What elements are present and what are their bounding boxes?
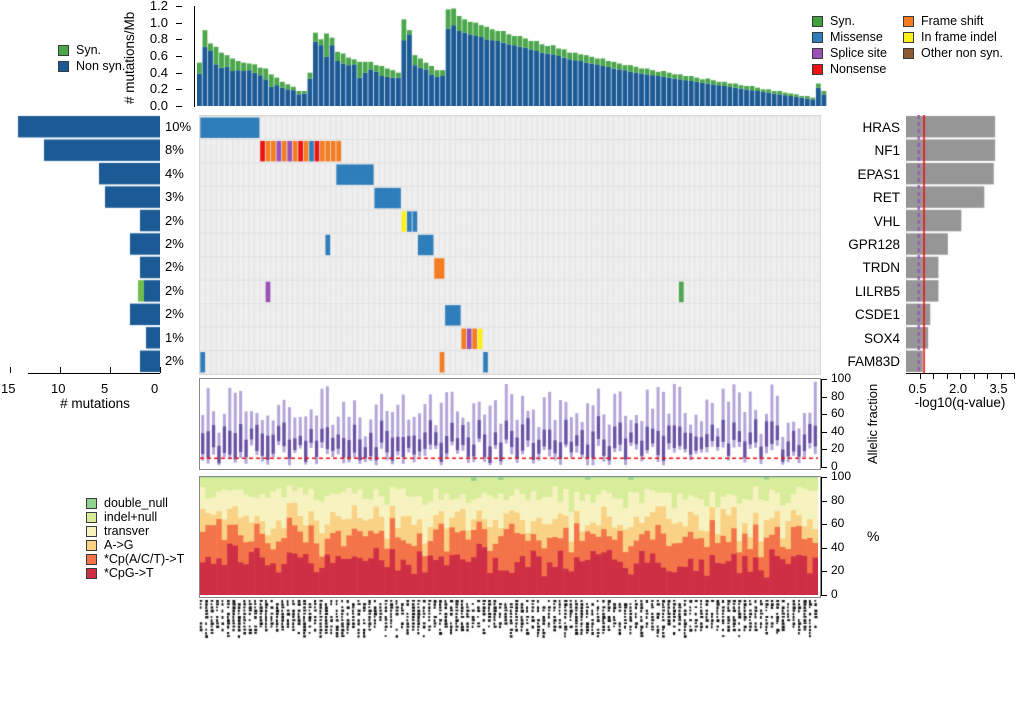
rate-ytick: 0.4 — [150, 65, 168, 80]
legend-item-cp-a-c-t-t: *Cp(A/C/T)->T — [86, 552, 184, 566]
gene-label-nf1: NF1 — [824, 144, 900, 158]
rate-ytick-mark — [176, 39, 182, 40]
gene-percent: 1% — [165, 331, 184, 344]
legend-label: Splice site — [830, 46, 887, 60]
spectrum-swatch-icon — [86, 568, 97, 579]
mutation-spectrum-area — [200, 477, 818, 595]
mutation-type-swatch-icon — [812, 48, 823, 59]
gene-count-tick: 15 — [1, 381, 15, 396]
gene-percent: 2% — [165, 307, 184, 320]
legend-item-splice-site: Splice site — [812, 45, 887, 61]
allelic-fraction-boxes — [200, 379, 818, 467]
gene-percent: 2% — [165, 260, 184, 273]
legend-syn-nonsyn: Syn. Non syn. — [58, 42, 125, 74]
qvalue-tick-mark — [1014, 373, 1015, 379]
gene-percent: 4% — [165, 167, 184, 180]
spectrum-tick: 80 — [831, 493, 844, 507]
rate-ytick: 0.6 — [150, 48, 168, 63]
gene-percent: 3% — [165, 190, 184, 203]
gene-count-tick: 0 — [151, 381, 158, 396]
mutation-rate-yaxis-line — [194, 6, 195, 107]
qvalue-tick-mark — [987, 373, 988, 379]
spectrum-tick: 0 — [831, 587, 838, 601]
legend-item-cpg-t: *CpG->T — [86, 566, 184, 580]
legend-item-in-frame-indel: In frame indel — [903, 29, 1003, 45]
nonsyn-swatch-icon — [58, 61, 69, 72]
allelic-fraction-yaxis: 020406080100 Allelic fraction — [821, 378, 911, 470]
gene-percent: 2% — [165, 284, 184, 297]
spectrum-tick-mark — [821, 595, 827, 596]
legend-label: Missense — [830, 30, 883, 44]
qvalue-panel — [906, 115, 1014, 373]
qvalue-tick-mark — [920, 373, 921, 379]
gene-label-lilrb5: LILRB5 — [824, 285, 900, 299]
legend-label: double_null — [104, 496, 168, 510]
legend-item-nonsense: Nonsense — [812, 61, 887, 77]
legend-item-double-null: double_null — [86, 496, 184, 510]
qvalue-bars — [906, 115, 1014, 373]
gene-label-csde1: CSDE1 — [824, 308, 900, 322]
mutation-type-swatch-icon — [812, 64, 823, 75]
qvalue-tick: 3.5 — [990, 381, 1008, 396]
allelic-tick: 40 — [831, 424, 844, 438]
legend-label: *CpG->T — [104, 566, 154, 580]
legend-item-frame-shift: Frame shift — [903, 13, 1003, 29]
qvalue-tick: 0.5 — [909, 381, 927, 396]
gene-count-tick-mark — [10, 367, 11, 373]
qvalue-tick-mark — [1001, 373, 1002, 379]
rate-ytick: 0.2 — [150, 81, 168, 96]
gene-percent: 2% — [165, 354, 184, 367]
spectrum-yaxis: 020406080100 % — [821, 476, 911, 598]
spectrum-tick: 100 — [831, 469, 851, 483]
legend-label: indel+null — [104, 510, 157, 524]
rate-ytick: 1.2 — [150, 0, 168, 13]
spectrum-swatch-icon — [86, 554, 97, 565]
mutation-rate-bars — [197, 6, 827, 106]
spectrum-ticks: 020406080100 — [821, 476, 873, 598]
allelic-fraction-ticks: 020406080100 — [821, 378, 871, 470]
allelic-tick: 100 — [831, 371, 851, 385]
gene-percent: 8% — [165, 143, 184, 156]
allelic-tick: 80 — [831, 389, 844, 403]
qvalue-tick-mark — [960, 373, 961, 379]
legend-label-nonsyn: Non syn. — [76, 59, 125, 73]
mutation-rate-yticks: 0.00.20.40.60.81.01.2 — [140, 0, 182, 112]
gene-count-tick: 5 — [101, 381, 108, 396]
oncoprint-grid[interactable] — [199, 115, 821, 375]
allelic-tick-mark — [821, 467, 827, 468]
legend-item-transver: transver — [86, 524, 184, 538]
gene-percent: 10% — [165, 120, 191, 133]
spectrum-swatch-icon — [86, 540, 97, 551]
legend-label: In frame indel — [921, 30, 997, 44]
qvalue-tick-mark — [933, 373, 934, 379]
allelic-tick: 20 — [831, 441, 844, 455]
legend-types-col1: Syn.MissenseSplice siteNonsense — [812, 13, 887, 77]
rate-ytick-mark — [176, 6, 182, 7]
gene-label-ret: RET — [824, 191, 900, 205]
allelic-axis-line — [821, 379, 822, 467]
gene-count-tick-mark — [160, 367, 161, 373]
mutation-type-swatch-icon — [903, 48, 914, 59]
sample-label-strip — [199, 598, 819, 646]
legend-spectrum: double_nullindel+nulltransverA->G*Cp(A/C… — [86, 496, 184, 580]
qvalue-axis: 0.52.03.5 -log10(q-value) — [906, 373, 1020, 419]
gene-label-vhl: VHL — [824, 215, 900, 229]
legend-item-missense: Missense — [812, 29, 887, 45]
legend-label: *Cp(A/C/T)->T — [104, 552, 184, 566]
mutation-type-swatch-icon — [812, 16, 823, 27]
legend-item-syn: Syn. — [58, 42, 125, 58]
gene-label-hras: HRAS — [824, 121, 900, 135]
rate-ytick-mark — [176, 73, 182, 74]
mutation-type-swatch-icon — [903, 32, 914, 43]
legend-item-nonsyn: Non syn. — [58, 58, 125, 74]
gene-percent: 2% — [165, 237, 184, 250]
legend-item-a-g: A->G — [86, 538, 184, 552]
legend-item-other-non-syn: Other non syn. — [903, 45, 1003, 61]
legend-label: Frame shift — [921, 14, 984, 28]
gene-label-column: HRASNF1EPAS1RETVHLGPR128TRDNLILRB5CSDE1S… — [826, 115, 904, 373]
syn-swatch-icon — [58, 45, 69, 56]
gene-label-sox4: SOX4 — [824, 332, 900, 346]
gene-count-axis: 151050 # mutations — [0, 373, 200, 419]
rate-ytick: 0.8 — [150, 31, 168, 46]
legend-label: A->G — [104, 538, 134, 552]
legend-label: Syn. — [830, 14, 855, 28]
gene-label-trdn: TRDN — [824, 261, 900, 275]
mutation-type-swatch-icon — [812, 32, 823, 43]
spectrum-tick: 20 — [831, 563, 844, 577]
gene-label-gpr128: GPR128 — [824, 238, 900, 252]
rate-ytick: 0.0 — [150, 98, 168, 113]
spectrum-swatch-icon — [86, 498, 97, 509]
qvalue-tick-mark — [974, 373, 975, 379]
rate-ytick-mark — [176, 56, 182, 57]
gene-label-fam83d: FAM83D — [824, 355, 900, 369]
allelic-tick: 60 — [831, 406, 844, 420]
gene-percent: 2% — [165, 214, 184, 227]
legend-label: Other non syn. — [921, 46, 1003, 60]
gene-count-xlabel: # mutations — [28, 396, 162, 411]
spectrum-tick: 40 — [831, 540, 844, 554]
legend-mutation-types: Syn.MissenseSplice siteNonsense Frame sh… — [812, 13, 1003, 77]
legend-label: Nonsense — [830, 62, 886, 76]
mutation-type-swatch-icon — [903, 16, 914, 27]
legend-label-syn: Syn. — [76, 43, 101, 57]
rate-ytick-mark — [176, 89, 182, 90]
allelic-fraction-panel — [199, 378, 821, 470]
gene-percent-column: 10%8%4%3%2%2%2%2%2%1%2% — [163, 115, 198, 373]
qvalue-tick-mark — [947, 373, 948, 379]
spectrum-ylabel: % — [867, 528, 879, 544]
spectrum-axis-line — [821, 477, 822, 595]
gene-count-tick-mark — [60, 367, 61, 373]
spectrum-swatch-icon — [86, 512, 97, 523]
legend-types-col2: Frame shiftIn frame indelOther non syn. — [903, 13, 1003, 77]
spectrum-swatch-icon — [86, 526, 97, 537]
gene-count-bars — [0, 115, 160, 373]
allelic-fraction-ylabel: Allelic fraction — [865, 380, 880, 468]
mutation-spectrum-panel — [199, 476, 821, 598]
spectrum-tick: 60 — [831, 516, 844, 530]
gene-label-epas1: EPAS1 — [824, 168, 900, 182]
rate-ytick: 1.0 — [150, 15, 168, 30]
qvalue-xlabel: -log10(q-value) — [900, 395, 1020, 410]
rate-ytick-mark — [176, 23, 182, 24]
rate-ytick-mark — [176, 106, 182, 107]
qvalue-tick: 2.0 — [949, 381, 967, 396]
legend-item-syn: Syn. — [812, 13, 887, 29]
gene-count-tick-mark — [110, 367, 111, 373]
legend-label: transver — [104, 524, 149, 538]
gene-count-panel — [0, 115, 160, 373]
gene-count-tick: 10 — [51, 381, 65, 396]
legend-item-indel-null: indel+null — [86, 510, 184, 524]
